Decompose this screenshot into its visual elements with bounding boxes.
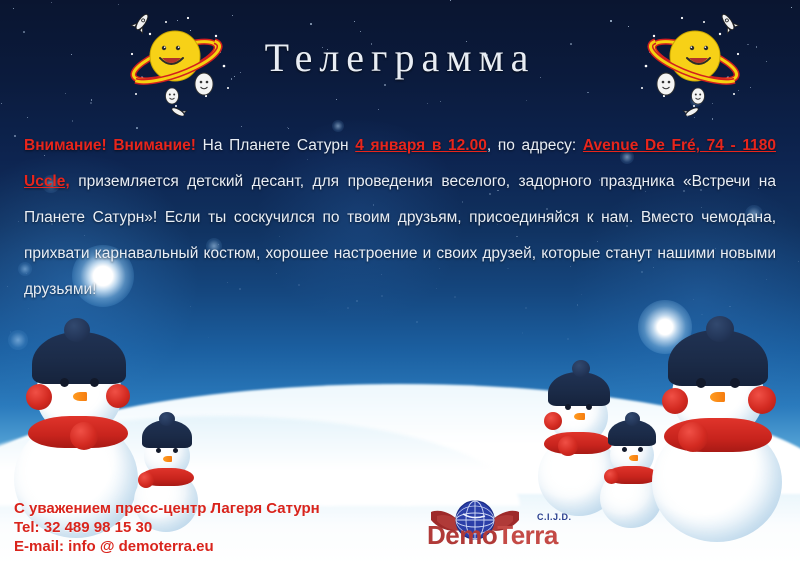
logo-wordmark: DemoTerra (427, 520, 558, 551)
demoterra-logo: C.I.J.D. DemoTerra (425, 494, 605, 554)
footer-contact: С уважением пресс-центр Лагеря Сатурн Te… (14, 499, 320, 556)
attention-text: Внимание! Внимание! (24, 137, 196, 154)
footer-line-signature: С уважением пресс-центр Лагеря Сатурн (14, 499, 320, 518)
logo-demo-text: Demo (427, 520, 497, 550)
body-segment-3: приземляется детский десант, для проведе… (24, 173, 776, 298)
body-segment-1: На Планете Сатурн (196, 137, 355, 154)
footer-line-phone: Tel: 32 489 98 15 30 (14, 518, 320, 537)
footer-line-email: E-mail: info @ demoterra.eu (14, 537, 320, 556)
body-segment-2: , по адресу: (487, 137, 583, 154)
telegram-poster: Телеграмма Внимание! Внимание! На Планет… (0, 0, 800, 564)
announcement-text: Внимание! Внимание! На Планете Сатурн 4 … (24, 128, 776, 308)
logo-terra-text: Terra (497, 520, 558, 550)
event-datetime: 4 января в 12.00 (355, 137, 487, 154)
poster-header: Телеграмма (0, 0, 800, 120)
page-title: Телеграмма (0, 34, 800, 81)
snowman-large-right (648, 330, 800, 530)
